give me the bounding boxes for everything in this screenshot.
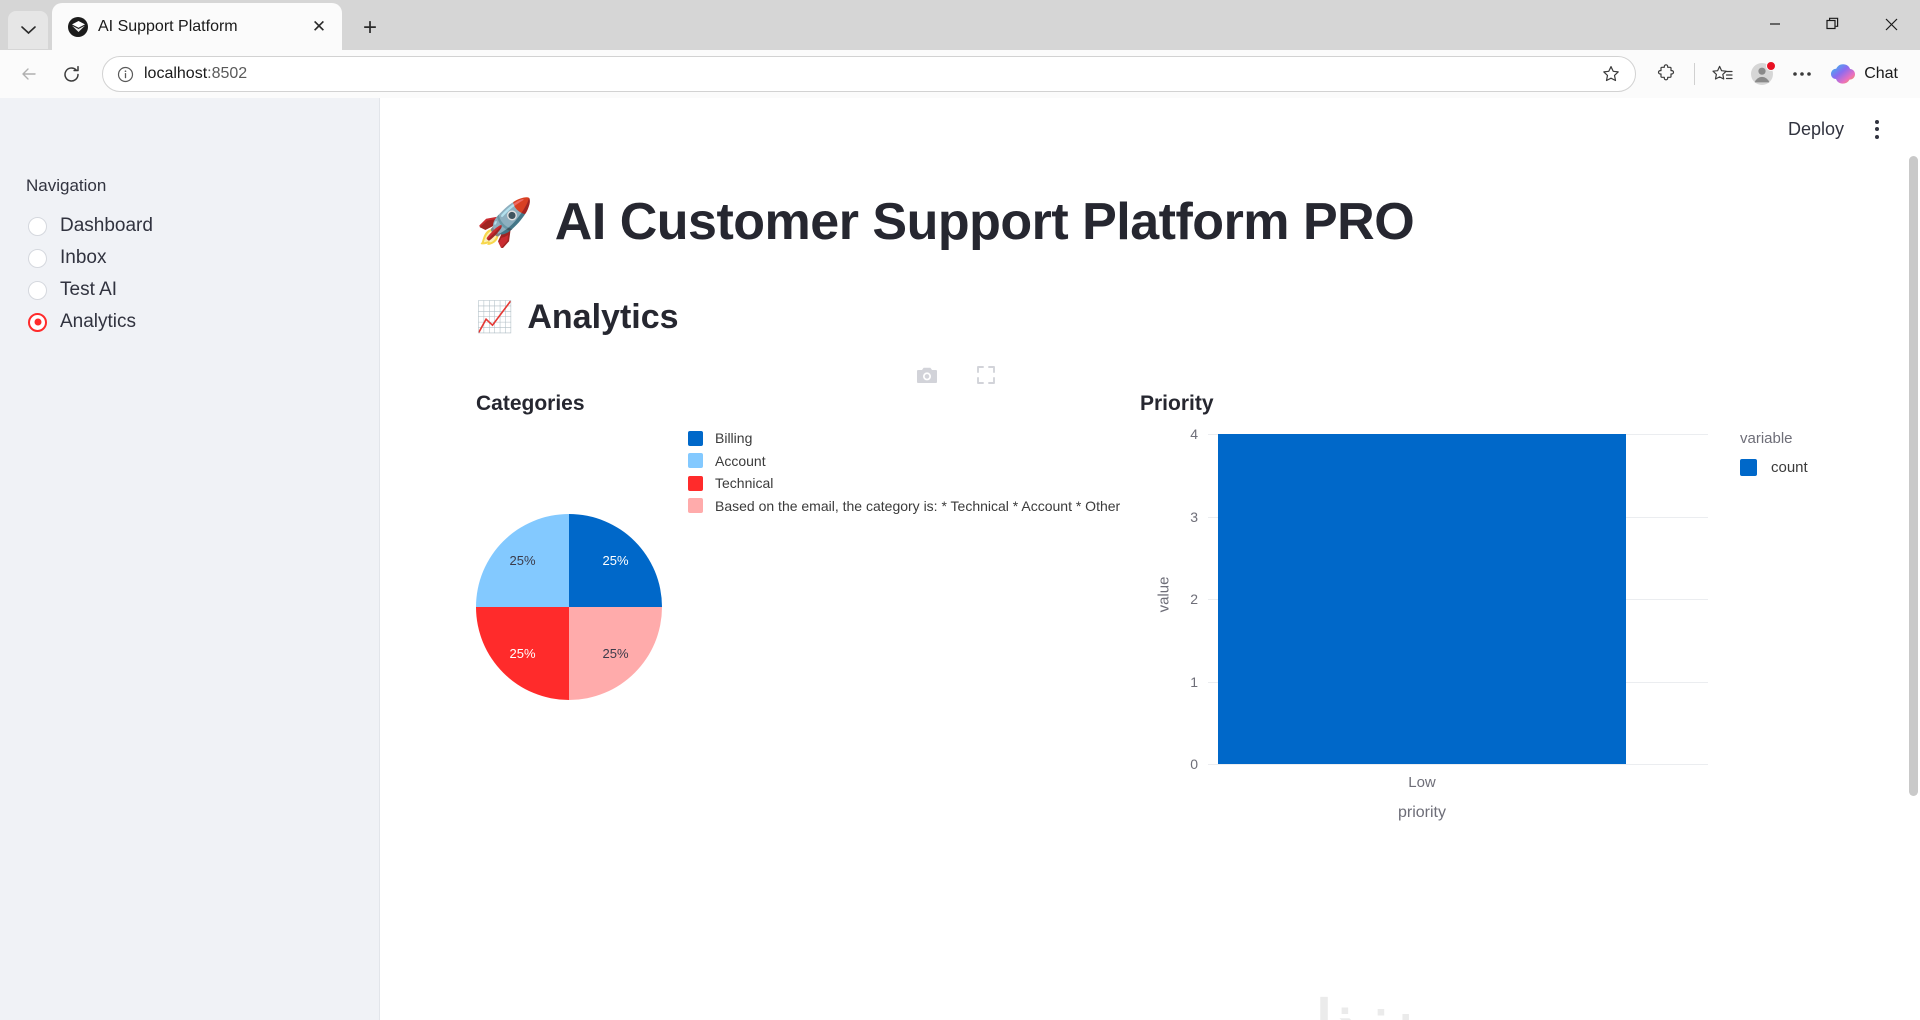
app-top-actions: Deploy <box>380 98 1920 160</box>
browser-tab-strip: AI Support Platform ✕ + <box>0 0 1920 50</box>
sidebar-item-dashboard[interactable]: Dashboard <box>0 210 379 242</box>
minimize-icon[interactable] <box>1746 0 1804 48</box>
copilot-icon <box>1829 60 1857 88</box>
legend-label: Based on the email, the category is: * T… <box>715 498 1120 514</box>
radio-icon[interactable] <box>28 281 47 300</box>
window-close-icon[interactable] <box>1862 0 1920 48</box>
address-bar[interactable]: localhost:8502 <box>102 56 1636 92</box>
priority-chart-title: Priority <box>1140 392 1840 416</box>
bar-chart-plot: 4 3 2 1 <box>1208 434 1708 764</box>
legend-item[interactable]: Billing <box>688 430 1120 446</box>
reload-icon[interactable] <box>52 55 90 93</box>
info-circle-icon[interactable] <box>117 66 134 83</box>
main-column: 🚀 AI Customer Support Platform PRO 📈 Ana… <box>380 160 1840 846</box>
back-arrow-icon[interactable] <box>10 55 48 93</box>
sidebar-item-label: Analytics <box>60 311 136 333</box>
restore-icon[interactable] <box>1804 0 1862 48</box>
pie-chart-area: 25% 25% 25% 25% <box>476 426 1110 756</box>
pie-slice-label: 25% <box>509 553 535 568</box>
kebab-menu-icon[interactable] <box>1860 112 1894 146</box>
toolbar-divider <box>1694 63 1695 85</box>
radio-icon[interactable] <box>28 249 47 268</box>
radio-icon-selected[interactable] <box>28 313 47 332</box>
copilot-chat-button[interactable]: Chat <box>1823 57 1910 91</box>
categories-chart: Categories 25% 25% 25% <box>476 392 1110 846</box>
page-scrollbar-thumb[interactable] <box>1909 156 1918 796</box>
bar-chart-x-axis-title: priority <box>1208 804 1636 822</box>
browser-tab-title: AI Support Platform <box>98 18 296 36</box>
profile-avatar-icon[interactable] <box>1743 55 1781 93</box>
legend-item[interactable]: Account <box>688 453 1120 469</box>
navigation-label: Navigation <box>0 176 379 210</box>
browser-toolbar: localhost:8502 <box>0 50 1920 98</box>
y-tick-label: 1 <box>1190 674 1198 690</box>
legend-swatch <box>688 431 703 446</box>
sidebar-item-inbox[interactable]: Inbox <box>0 242 379 274</box>
gridline: 0 <box>1208 764 1708 765</box>
pie-chart[interactable]: 25% 25% 25% 25% <box>476 514 662 700</box>
watermark-arabic: نفذلي <box>1225 996 1451 1020</box>
pie-slice-label: 25% <box>602 553 628 568</box>
extensions-puzzle-icon[interactable] <box>1648 55 1686 93</box>
sidebar-item-analytics[interactable]: Analytics <box>0 306 379 338</box>
y-tick-label: 2 <box>1190 591 1198 607</box>
fullscreen-expand-icon[interactable] <box>976 365 996 390</box>
app-content: Deploy 🚀 AI Customer Support Platform PR… <box>380 98 1920 1020</box>
sidebar-item-label: Inbox <box>60 247 106 269</box>
legend-swatch <box>1740 459 1757 476</box>
tab-list-dropdown-button[interactable] <box>8 11 48 49</box>
pie-slice-label: 25% <box>509 646 535 661</box>
favorite-star-icon[interactable] <box>1595 58 1627 90</box>
pie-slice-technical[interactable]: 25% <box>476 607 569 700</box>
address-port: :8502 <box>207 65 247 82</box>
new-tab-button[interactable]: + <box>352 10 388 46</box>
deploy-button[interactable]: Deploy <box>1776 112 1856 147</box>
more-ellipsis-icon[interactable] <box>1783 55 1821 93</box>
section-title: 📈 Analytics <box>476 298 1840 337</box>
legend-item[interactable]: Technical <box>688 475 1120 491</box>
sidebar-item-label: Test AI <box>60 279 117 301</box>
page-scrollbar-track[interactable] <box>1907 98 1920 1020</box>
legend-swatch <box>688 476 703 491</box>
section-title-text: Analytics <box>527 298 678 337</box>
copilot-chat-label: Chat <box>1864 65 1898 83</box>
sidebar-item-label: Dashboard <box>60 215 153 237</box>
window-controls <box>1746 0 1920 48</box>
y-tick-label: 4 <box>1190 426 1198 442</box>
address-bar-url[interactable]: localhost:8502 <box>144 65 1585 83</box>
pie-slice-label: 25% <box>602 646 628 661</box>
legend-label: Billing <box>715 430 752 446</box>
y-tick-label: 0 <box>1190 756 1198 772</box>
priority-chart: Priority value 4 3 <box>1140 392 1840 846</box>
plot-toolbar <box>476 365 1136 390</box>
legend-item[interactable]: count <box>1740 459 1808 476</box>
chevron-down-icon <box>21 26 36 35</box>
toolbar-right-group: Chat <box>1648 55 1910 93</box>
legend-label: Technical <box>715 475 773 491</box>
radio-icon[interactable] <box>28 217 47 236</box>
legend-item[interactable]: Based on the email, the category is: * T… <box>688 498 1120 514</box>
page-viewport: Navigation Dashboard Inbox Test AI Analy… <box>0 98 1920 1020</box>
categories-chart-title: Categories <box>476 392 1110 416</box>
collections-star-icon[interactable] <box>1703 55 1741 93</box>
profile-notification-badge <box>1766 61 1776 71</box>
bar-chart-y-axis-title: value <box>1155 577 1172 613</box>
bar-chart-legend-title: variable <box>1740 430 1808 447</box>
pie-slice-billing[interactable]: 25% <box>569 514 662 607</box>
app-sidebar: Navigation Dashboard Inbox Test AI Analy… <box>0 98 380 1020</box>
bar-chart-area: value 4 3 2 <box>1140 426 1840 846</box>
page-title: 🚀 AI Customer Support Platform PRO <box>476 192 1840 252</box>
browser-tab[interactable]: AI Support Platform ✕ <box>52 3 342 50</box>
rocket-icon: 🚀 <box>476 199 533 245</box>
bar-low-count[interactable] <box>1218 434 1626 764</box>
page-title-text: AI Customer Support Platform PRO <box>555 192 1414 252</box>
bar-chart-x-tick-label: Low <box>1208 774 1636 791</box>
legend-label: count <box>1771 459 1808 476</box>
download-plot-camera-icon[interactable] <box>916 365 938 390</box>
y-tick-label: 3 <box>1190 509 1198 525</box>
address-host: localhost <box>144 65 207 82</box>
pie-slice-account[interactable]: 25% <box>476 514 569 607</box>
pie-chart-legend: Billing Account Technical <box>688 430 1120 514</box>
charts-row: Categories 25% 25% 25% <box>476 392 1840 846</box>
streamlit-favicon <box>68 17 88 37</box>
legend-label: Account <box>715 453 766 469</box>
sidebar-item-test-ai[interactable]: Test AI <box>0 274 379 306</box>
chart-increasing-icon: 📈 <box>476 303 513 333</box>
browser-window: AI Support Platform ✕ + <box>0 0 1920 1020</box>
bar-chart-legend: variable count <box>1740 430 1808 476</box>
watermark: نفذلي nafezly.com <box>1225 996 1451 1020</box>
legend-swatch <box>688 453 703 468</box>
legend-swatch <box>688 498 703 513</box>
tab-close-icon[interactable]: ✕ <box>306 14 332 40</box>
pie-slice-other[interactable]: 25% <box>569 607 662 700</box>
